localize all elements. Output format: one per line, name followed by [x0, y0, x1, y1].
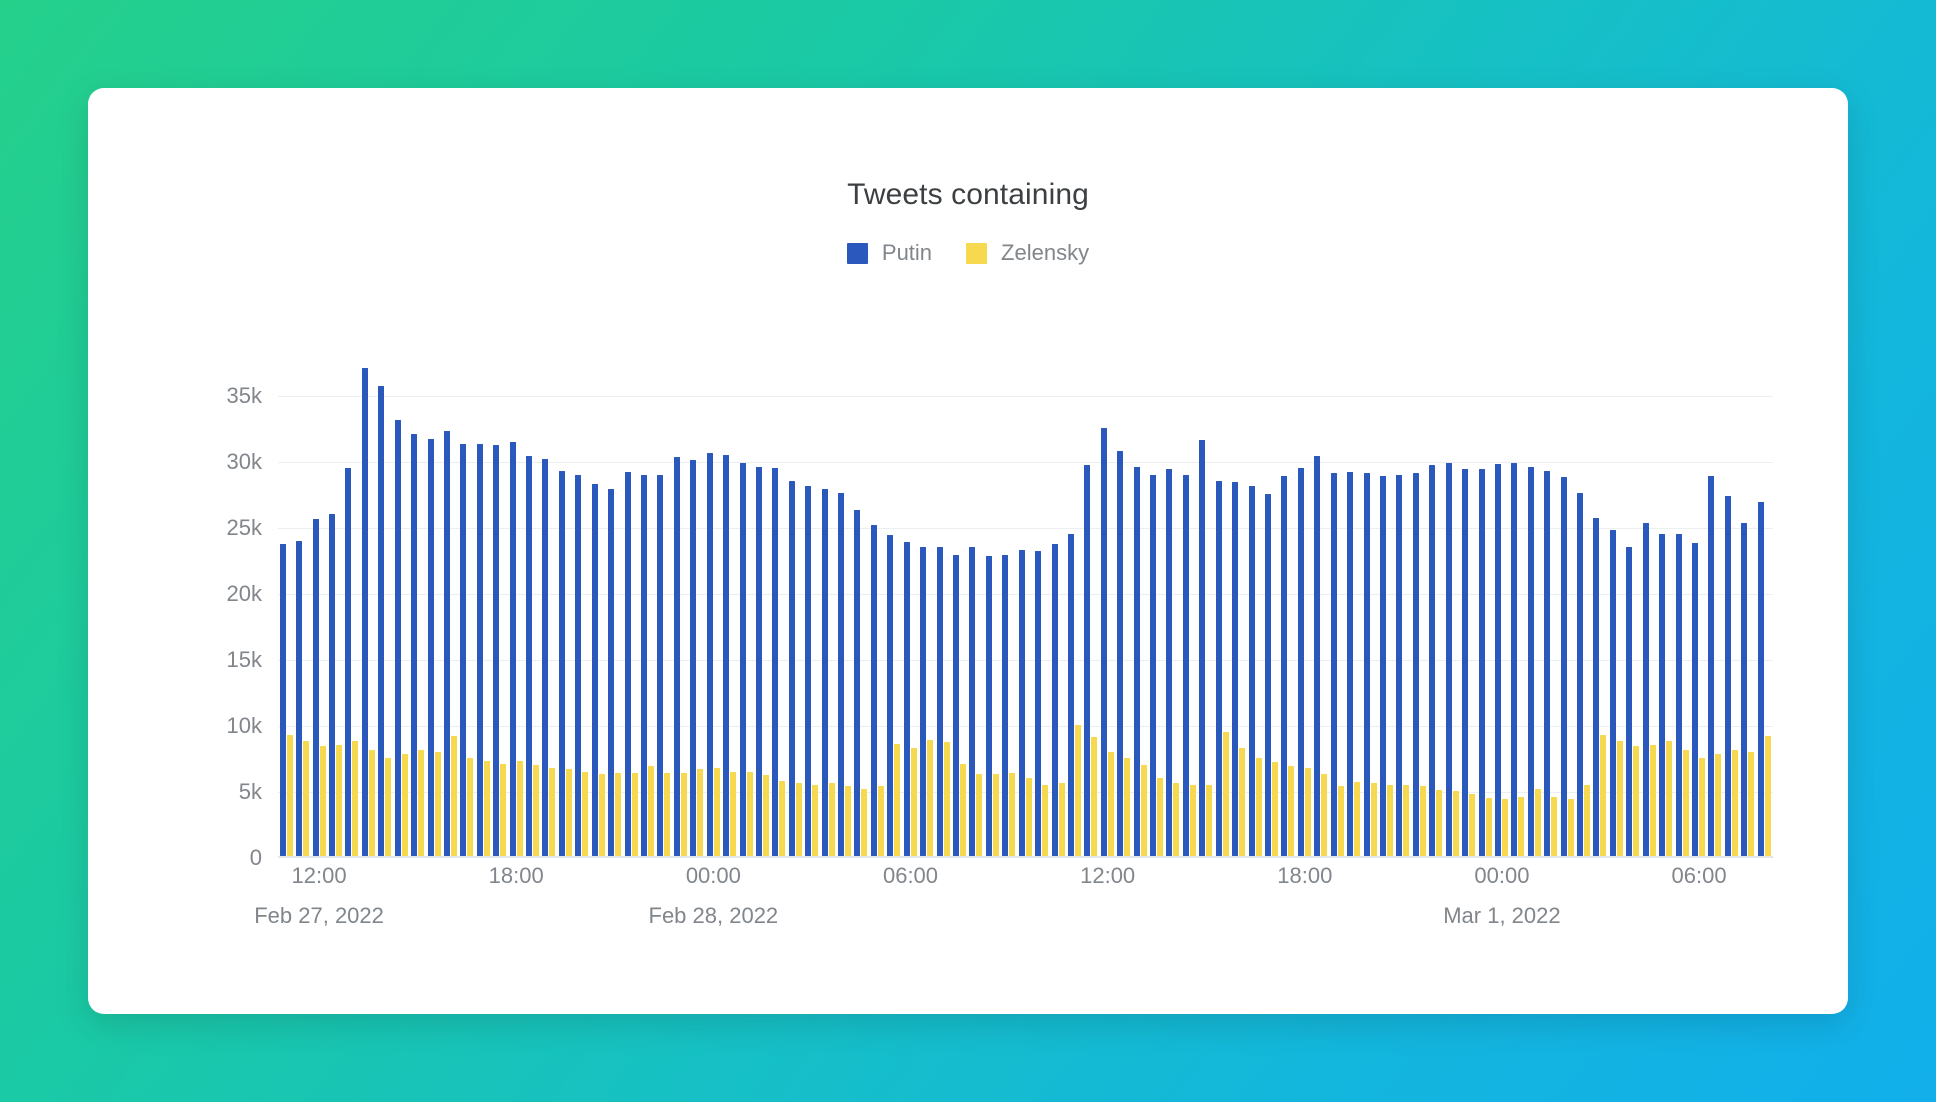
bar-putin[interactable] [542, 459, 548, 856]
bar-group[interactable] [508, 361, 524, 856]
bar-group[interactable] [524, 361, 540, 856]
bar-group[interactable] [1066, 361, 1082, 856]
bar-zelensky[interactable] [927, 740, 933, 856]
bar-group[interactable] [590, 361, 606, 856]
bar-zelensky[interactable] [1699, 758, 1705, 856]
bar-putin[interactable] [1413, 473, 1419, 856]
bar-zelensky[interactable] [1387, 785, 1393, 856]
legend-swatch-zelensky-icon [966, 243, 987, 264]
bar-putin[interactable] [1429, 465, 1435, 856]
bar-zelensky[interactable] [747, 772, 753, 856]
bar-zelensky[interactable] [944, 742, 950, 856]
bar-putin[interactable] [1577, 493, 1583, 856]
bar-putin[interactable] [1593, 518, 1599, 856]
bar-zelensky[interactable] [878, 786, 884, 856]
bar-zelensky[interactable] [812, 785, 818, 856]
plot-area: 05k10k15k20k25k30k35k [186, 363, 1773, 858]
bar-zelensky[interactable] [566, 769, 572, 856]
bar-putin[interactable] [1150, 475, 1156, 856]
bar-putin[interactable] [428, 439, 434, 856]
bar-zelensky[interactable] [1075, 725, 1081, 856]
bar-group[interactable] [984, 361, 1000, 856]
bar-group[interactable] [902, 361, 918, 856]
bar-group[interactable] [1559, 361, 1575, 856]
bar-putin[interactable] [723, 455, 729, 856]
bar-zelensky[interactable] [1469, 794, 1475, 856]
bar-zelensky[interactable] [911, 748, 917, 856]
bar-group[interactable] [442, 361, 458, 856]
bar-putin[interactable] [838, 493, 844, 856]
y-axis-tick-label: 25k [186, 515, 262, 541]
legend-label-zelensky: Zelensky [1001, 240, 1089, 266]
bar-putin[interactable] [1216, 481, 1222, 856]
bar-group[interactable] [1116, 361, 1132, 856]
bar-putin[interactable] [1019, 550, 1025, 856]
bar-putin[interactable] [1183, 475, 1189, 856]
bar-zelensky[interactable] [1157, 778, 1163, 856]
bar-group[interactable] [738, 361, 754, 856]
bar-zelensky[interactable] [599, 774, 605, 856]
bar-putin[interactable] [280, 544, 286, 856]
bar-putin[interactable] [1511, 463, 1517, 856]
bar-group[interactable] [869, 361, 885, 856]
bar-zelensky[interactable] [1748, 752, 1754, 856]
bar-zelensky[interactable] [1715, 754, 1721, 856]
bar-putin[interactable] [1364, 473, 1370, 856]
x-axis-date-label: Feb 27, 2022 [254, 903, 384, 929]
bar-putin[interactable] [477, 444, 483, 856]
legend-item-zelensky[interactable]: Zelensky [966, 240, 1089, 266]
bar-putin[interactable] [296, 541, 302, 856]
bar-putin[interactable] [1692, 543, 1698, 856]
bar-group[interactable] [918, 361, 934, 856]
bar-putin[interactable] [756, 467, 762, 856]
bar-putin[interactable] [1495, 464, 1501, 856]
bar-putin[interactable] [575, 475, 581, 856]
bar-group[interactable] [1214, 361, 1230, 856]
bar-zelensky[interactable] [1190, 785, 1196, 856]
x-axis-tick-label: 18:00 [1277, 863, 1332, 889]
bar-zelensky[interactable] [1765, 736, 1771, 856]
bar-group[interactable] [836, 361, 852, 856]
bar-putin[interactable] [1741, 523, 1747, 856]
bar-putin[interactable] [953, 555, 959, 856]
bar-group[interactable] [1707, 361, 1723, 856]
bar-putin[interactable] [1758, 502, 1764, 856]
bar-zelensky[interactable] [1486, 798, 1492, 856]
bar-zelensky[interactable] [1124, 758, 1130, 856]
bar-group[interactable] [1083, 361, 1099, 856]
bar-putin[interactable] [526, 456, 532, 856]
bar-zelensky[interactable] [1551, 797, 1557, 856]
bar-group[interactable] [656, 361, 672, 856]
x-axis-tick-label: 06:00 [883, 863, 938, 889]
bar-putin[interactable] [444, 431, 450, 856]
bar-putin[interactable] [641, 475, 647, 856]
bar-putin[interactable] [378, 386, 384, 856]
bar-zelensky[interactable] [435, 752, 441, 856]
bar-putin[interactable] [887, 535, 893, 856]
bar-group[interactable] [639, 361, 655, 856]
bar-zelensky[interactable] [1535, 789, 1541, 856]
bar-putin[interactable] [362, 368, 368, 856]
bar-group[interactable] [1099, 361, 1115, 856]
bar-group[interactable] [1132, 361, 1148, 856]
bar-zelensky[interactable] [1403, 785, 1409, 856]
chart-legend: Putin Zelensky [88, 240, 1848, 266]
bar-putin[interactable] [657, 475, 663, 856]
bar-zelensky[interactable] [369, 750, 375, 856]
x-axis-tick-label: 18:00 [489, 863, 544, 889]
bar-group[interactable] [1411, 361, 1427, 856]
bar-zelensky[interactable] [500, 764, 506, 856]
bar-group[interactable] [1493, 361, 1509, 856]
legend-swatch-putin-icon [847, 243, 868, 264]
bar-putin[interactable] [854, 510, 860, 856]
bar-putin[interactable] [313, 519, 319, 856]
bar-zelensky[interactable] [484, 761, 490, 856]
bar-zelensky[interactable] [303, 741, 309, 856]
bar-putin[interactable] [1134, 467, 1140, 856]
bar-putin[interactable] [1298, 468, 1304, 856]
bar-group[interactable] [1247, 361, 1263, 856]
bar-putin[interactable] [608, 489, 614, 856]
bar-zelensky[interactable] [385, 758, 391, 856]
bar-group[interactable] [672, 361, 688, 856]
bar-zelensky[interactable] [1436, 790, 1442, 856]
bar-zelensky[interactable] [714, 768, 720, 856]
bar-putin[interactable] [805, 486, 811, 856]
bar-zelensky[interactable] [976, 774, 982, 856]
bar-putin[interactable] [510, 442, 516, 856]
bar-zelensky[interactable] [648, 766, 654, 856]
bar-zelensky[interactable] [1108, 752, 1114, 856]
bar-group[interactable] [1313, 361, 1329, 856]
bar-group[interactable] [1378, 361, 1394, 856]
y-axis-tick-label: 0 [186, 845, 262, 871]
bar-group[interactable] [1575, 361, 1591, 856]
bar-putin[interactable] [1117, 451, 1123, 856]
x-axis-tick-label: 06:00 [1672, 863, 1727, 889]
bar-zelensky[interactable] [1420, 786, 1426, 856]
bar-group[interactable] [1198, 361, 1214, 856]
bar-group[interactable] [1395, 361, 1411, 856]
bar-zelensky[interactable] [1354, 782, 1360, 856]
x-axis: 12:0018:0000:0006:0012:0018:0000:0006:00… [278, 863, 1848, 963]
bar-putin[interactable] [1708, 476, 1714, 856]
bar-group[interactable] [1230, 361, 1246, 856]
bar-zelensky[interactable] [467, 758, 473, 856]
bar-group[interactable] [1428, 361, 1444, 856]
bar-group[interactable] [294, 361, 310, 856]
bar-putin[interactable] [1610, 530, 1616, 856]
legend-label-putin: Putin [882, 240, 932, 266]
bar-putin[interactable] [395, 420, 401, 856]
bar-putin[interactable] [1626, 547, 1632, 856]
bar-putin[interactable] [411, 434, 417, 856]
bar-zelensky[interactable] [1453, 791, 1459, 856]
bar-zelensky[interactable] [861, 789, 867, 856]
bar-zelensky[interactable] [1683, 750, 1689, 856]
bar-putin[interactable] [1725, 496, 1731, 856]
bar-zelensky[interactable] [582, 772, 588, 856]
bar-zelensky[interactable] [615, 773, 621, 856]
bar-group[interactable] [1690, 361, 1706, 856]
bar-zelensky[interactable] [796, 783, 802, 856]
bar-group[interactable] [1345, 361, 1361, 856]
bar-putin[interactable] [1314, 456, 1320, 856]
bar-group[interactable] [1608, 361, 1624, 856]
bar-group[interactable] [1148, 361, 1164, 856]
bar-putin[interactable] [1380, 476, 1386, 856]
bar-group[interactable] [475, 361, 491, 856]
bar-group[interactable] [360, 361, 376, 856]
y-axis-tick-label: 20k [186, 581, 262, 607]
bar-zelensky[interactable] [418, 750, 424, 856]
bar-zelensky[interactable] [960, 764, 966, 856]
bar-group[interactable] [1050, 361, 1066, 856]
bar-zelensky[interactable] [1026, 778, 1032, 856]
bar-group[interactable] [311, 361, 327, 856]
bar-putin[interactable] [772, 468, 778, 856]
bar-zelensky[interactable] [1650, 745, 1656, 856]
bar-group[interactable] [623, 361, 639, 856]
chart-card: Tweets containing Putin Zelensky 05k10k1… [88, 88, 1848, 1014]
bar-putin[interactable] [740, 463, 746, 856]
bar-group[interactable] [278, 361, 294, 856]
bar-group[interactable] [935, 361, 951, 856]
bar-group[interactable] [606, 361, 622, 856]
bar-putin[interactable] [1462, 469, 1468, 856]
bar-group[interactable] [1165, 361, 1181, 856]
bar-putin[interactable] [674, 457, 680, 856]
bar-group[interactable] [409, 361, 425, 856]
bar-zelensky[interactable] [779, 781, 785, 856]
bar-zelensky[interactable] [1009, 773, 1015, 856]
bar-putin[interactable] [345, 468, 351, 856]
bar-putin[interactable] [1084, 465, 1090, 856]
bar-group[interactable] [1641, 361, 1657, 856]
bar-group[interactable] [541, 361, 557, 856]
bar-zelensky[interactable] [1568, 799, 1574, 856]
bar-putin[interactable] [1199, 440, 1205, 856]
x-axis-tick-label: 00:00 [1474, 863, 1529, 889]
bar-putin[interactable] [937, 547, 943, 856]
bar-zelensky[interactable] [1633, 746, 1639, 856]
bar-group[interactable] [968, 361, 984, 856]
bar-group[interactable] [1756, 361, 1772, 856]
bar-zelensky[interactable] [1666, 741, 1672, 856]
bar-group[interactable] [1477, 361, 1493, 856]
bar-putin[interactable] [707, 453, 713, 856]
bar-putin[interactable] [1528, 467, 1534, 856]
bar-putin[interactable] [1544, 471, 1550, 856]
bar-putin[interactable] [1281, 476, 1287, 856]
bar-putin[interactable] [1232, 482, 1238, 856]
bar-zelensky[interactable] [549, 768, 555, 856]
bar-putin[interactable] [1166, 469, 1172, 856]
bar-group[interactable] [689, 361, 705, 856]
bar-group[interactable] [426, 361, 442, 856]
bar-putin[interactable] [1643, 523, 1649, 856]
bar-zelensky[interactable] [1059, 783, 1065, 856]
bar-putin[interactable] [1101, 428, 1107, 856]
bar-group[interactable] [1460, 361, 1476, 856]
bar-group[interactable] [1280, 361, 1296, 856]
bar-putin[interactable] [559, 471, 565, 856]
bar-putin[interactable] [822, 489, 828, 856]
bar-zelensky[interactable] [829, 783, 835, 856]
bar-zelensky[interactable] [1223, 732, 1229, 856]
x-axis-date-label: Mar 1, 2022 [1443, 903, 1560, 929]
bar-group[interactable] [787, 361, 803, 856]
bar-zelensky[interactable] [533, 765, 539, 856]
bar-zelensky[interactable] [1732, 750, 1738, 856]
x-axis-tick-label: 00:00 [686, 863, 741, 889]
bar-zelensky[interactable] [1141, 765, 1147, 856]
bar-group[interactable] [951, 361, 967, 856]
bar-zelensky[interactable] [993, 774, 999, 856]
bar-zelensky[interactable] [1617, 741, 1623, 856]
bar-putin[interactable] [986, 556, 992, 856]
bar-putin[interactable] [789, 481, 795, 856]
bar-group[interactable] [853, 361, 869, 856]
bar-zelensky[interactable] [1206, 785, 1212, 856]
bar-zelensky[interactable] [632, 773, 638, 856]
bar-group[interactable] [1526, 361, 1542, 856]
bar-putin[interactable] [493, 445, 499, 856]
bar-zelensky[interactable] [1321, 774, 1327, 856]
y-axis-tick-label: 35k [186, 383, 262, 409]
bar-group[interactable] [1657, 361, 1673, 856]
bar-putin[interactable] [1479, 469, 1485, 856]
bar-putin[interactable] [969, 547, 975, 856]
bar-putin[interactable] [1331, 473, 1337, 856]
bar-putin[interactable] [871, 525, 877, 856]
app-root: Tweets containing Putin Zelensky 05k10k1… [0, 0, 1936, 1102]
bar-zelensky[interactable] [402, 754, 408, 856]
bar-putin[interactable] [625, 472, 631, 856]
bar-zelensky[interactable] [1338, 786, 1344, 856]
bar-zelensky[interactable] [1600, 735, 1606, 856]
bar-zelensky[interactable] [1239, 748, 1245, 856]
bar-putin[interactable] [1396, 475, 1402, 856]
bar-group[interactable] [1592, 361, 1608, 856]
bar-group[interactable] [705, 361, 721, 856]
bar-putin[interactable] [920, 547, 926, 856]
legend-item-putin[interactable]: Putin [847, 240, 932, 266]
bar-putin[interactable] [904, 542, 910, 856]
bar-group[interactable] [771, 361, 787, 856]
bar-putin[interactable] [460, 444, 466, 856]
bar-zelensky[interactable] [1288, 766, 1294, 856]
bar-putin[interactable] [690, 460, 696, 856]
bar-putin[interactable] [1446, 463, 1452, 856]
bar-zelensky[interactable] [1256, 758, 1262, 856]
bar-zelensky[interactable] [763, 775, 769, 856]
bar-putin[interactable] [329, 514, 335, 856]
bar-zelensky[interactable] [1042, 785, 1048, 856]
bar-putin[interactable] [1249, 486, 1255, 856]
bar-zelensky[interactable] [451, 736, 457, 856]
bar-group[interactable] [459, 361, 475, 856]
bar-group[interactable] [1263, 361, 1279, 856]
bar-putin[interactable] [1002, 555, 1008, 856]
bar-putin[interactable] [1676, 534, 1682, 856]
bar-zelensky[interactable] [1518, 797, 1524, 856]
bar-group[interactable] [1740, 361, 1756, 856]
bar-group[interactable] [1001, 361, 1017, 856]
bar-zelensky[interactable] [1584, 785, 1590, 856]
x-axis-tick-label: 12:00 [1080, 863, 1135, 889]
bar-putin[interactable] [592, 484, 598, 856]
bar-group[interactable] [1296, 361, 1312, 856]
bar-zelensky[interactable] [336, 745, 342, 856]
bar-putin[interactable] [1035, 551, 1041, 856]
y-axis-tick-label: 5k [186, 779, 262, 805]
bar-zelensky[interactable] [697, 769, 703, 856]
bar-zelensky[interactable] [1305, 768, 1311, 856]
bar-group[interactable] [1444, 361, 1460, 856]
bar-group[interactable] [377, 361, 393, 856]
bar-group[interactable] [1674, 361, 1690, 856]
bar-group[interactable] [820, 361, 836, 856]
bar-group[interactable] [886, 361, 902, 856]
bar-zelensky[interactable] [894, 744, 900, 856]
bar-group[interactable] [557, 361, 573, 856]
bar-group[interactable] [327, 361, 343, 856]
bar-group[interactable] [1329, 361, 1345, 856]
bar-group[interactable] [393, 361, 409, 856]
bar-group[interactable] [1723, 361, 1739, 856]
bar-zelensky[interactable] [845, 786, 851, 856]
bar-zelensky[interactable] [1173, 783, 1179, 856]
bar-group[interactable] [491, 361, 507, 856]
bar-zelensky[interactable] [287, 735, 293, 856]
bar-group[interactable] [574, 361, 590, 856]
bar-group[interactable] [804, 361, 820, 856]
bar-zelensky[interactable] [1091, 737, 1097, 856]
bar-zelensky[interactable] [1272, 762, 1278, 856]
bar-zelensky[interactable] [1371, 783, 1377, 856]
bar-zelensky[interactable] [664, 773, 670, 856]
bar-group[interactable] [1625, 361, 1641, 856]
bar-putin[interactable] [1561, 477, 1567, 856]
bar-group[interactable] [1017, 361, 1033, 856]
bar-putin[interactable] [1347, 472, 1353, 856]
bar-putin[interactable] [1659, 534, 1665, 856]
bar-zelensky[interactable] [730, 772, 736, 856]
bar-putin[interactable] [1265, 494, 1271, 856]
bar-series-container [278, 361, 1773, 858]
bar-putin[interactable] [1052, 544, 1058, 856]
bar-group[interactable] [721, 361, 737, 856]
bar-group[interactable] [344, 361, 360, 856]
bar-group[interactable] [754, 361, 770, 856]
bar-group[interactable] [1510, 361, 1526, 856]
x-axis-tick-label: 12:00 [292, 863, 347, 889]
bar-putin[interactable] [1068, 534, 1074, 856]
bar-zelensky[interactable] [1502, 799, 1508, 856]
bar-group[interactable] [1033, 361, 1049, 856]
bar-zelensky[interactable] [517, 761, 523, 856]
bar-group[interactable] [1181, 361, 1197, 856]
bar-zelensky[interactable] [352, 741, 358, 856]
bar-zelensky[interactable] [681, 773, 687, 856]
bar-zelensky[interactable] [320, 746, 326, 856]
bar-group[interactable] [1362, 361, 1378, 856]
bar-group[interactable] [1542, 361, 1558, 856]
